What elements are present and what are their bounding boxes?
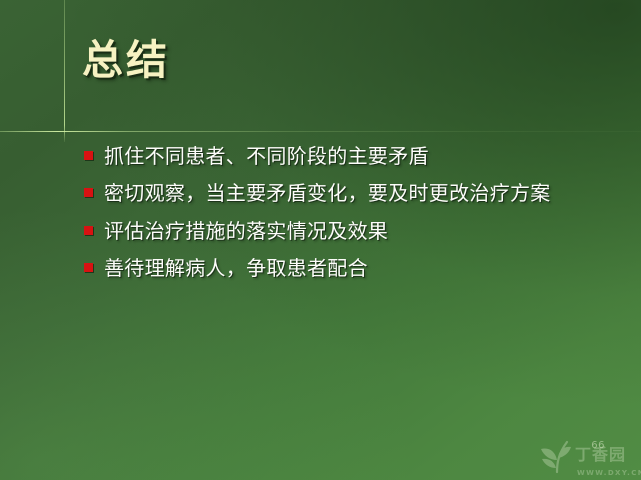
list-item-label: 善待理解病人，争取患者配合 [104,254,604,282]
list-item: 善待理解病人，争取患者配合 [84,254,604,282]
bullet-list: 抓住不同患者、不同阶段的主要矛盾 密切观察，当主要矛盾变化，要及时更改治疗方案 … [84,142,604,292]
leaf-icon [537,438,577,474]
list-item-label: 密切观察，当主要矛盾变化，要及时更改治疗方案 [104,179,604,207]
list-item: 抓住不同患者、不同阶段的主要矛盾 [84,142,604,170]
watermark-url: WWW.DXY.CN [577,469,641,477]
presentation-slide: 总结 抓住不同患者、不同阶段的主要矛盾 密切观察，当主要矛盾变化，要及时更改治疗… [0,0,641,480]
slide-title: 总结 [82,39,170,82]
list-item-label: 评估治疗措施的落实情况及效果 [104,217,604,245]
square-bullet-icon [84,151,93,160]
list-item: 密切观察，当主要矛盾变化，要及时更改治疗方案 [84,179,604,207]
dxy-watermark: 丁香园 WWW.DXY.CN [537,434,633,478]
list-item-label: 抓住不同患者、不同阶段的主要矛盾 [104,142,604,170]
decorative-horizontal-rule [0,131,641,132]
square-bullet-icon [84,188,93,197]
page-number: 66 [591,440,605,451]
decorative-vertical-rule [64,0,65,142]
square-bullet-icon [84,263,93,272]
list-item: 评估治疗措施的落实情况及效果 [84,217,604,245]
square-bullet-icon [84,226,93,235]
